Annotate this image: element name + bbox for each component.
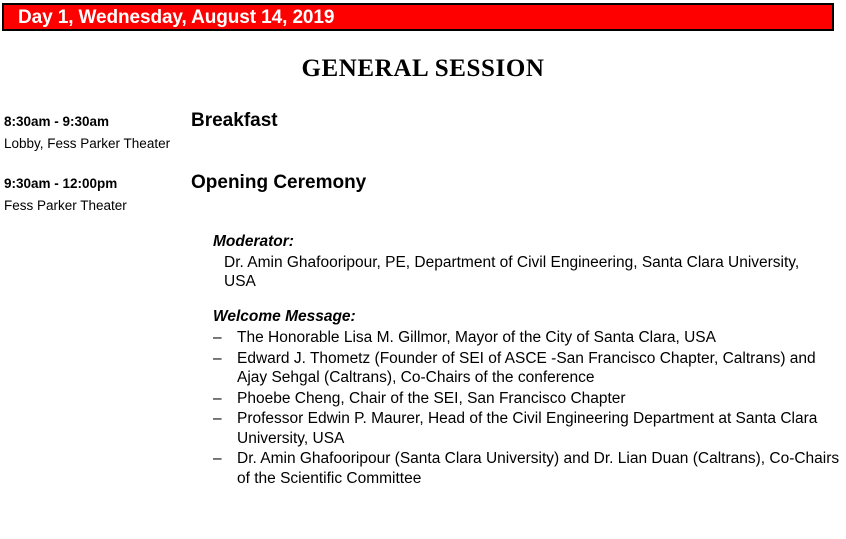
- list-item-text: The Honorable Lisa M. Gillmor, Mayor of …: [237, 329, 716, 346]
- dash-bullet-icon: –: [213, 349, 222, 369]
- day-banner: Day 1, Wednesday, August 14, 2019: [2, 3, 834, 31]
- list-item: – Phoebe Cheng, Chair of the SEI, San Fr…: [213, 389, 846, 409]
- moderator-text: Dr. Amin Ghafooripour, PE, Department of…: [224, 253, 809, 291]
- session-title: Opening Ceremony: [191, 171, 366, 195]
- welcome-message-heading: Welcome Message:: [213, 307, 846, 327]
- dash-bullet-icon: –: [213, 328, 222, 348]
- list-item: – Dr. Amin Ghafooripour (Santa Clara Uni…: [213, 449, 846, 488]
- session-location: Fess Parker Theater: [4, 197, 846, 215]
- schedule-list: 8:30am - 9:30am Breakfast Lobby, Fess Pa…: [0, 112, 846, 488]
- dash-bullet-icon: –: [213, 389, 222, 409]
- session-opening-ceremony: 9:30am - 12:00pm Opening Ceremony Fess P…: [0, 174, 846, 488]
- list-item-text: Professor Edwin P. Maurer, Head of the C…: [237, 410, 817, 447]
- session-location: Lobby, Fess Parker Theater: [4, 135, 846, 153]
- dash-bullet-icon: –: [213, 449, 222, 469]
- dash-bullet-icon: –: [213, 409, 222, 429]
- session-header-row: 8:30am - 9:30am Breakfast: [0, 112, 846, 134]
- page-title: GENERAL SESSION: [0, 55, 846, 83]
- moderator-block: Moderator: Dr. Amin Ghafooripour, PE, De…: [213, 232, 846, 291]
- list-item: – The Honorable Lisa M. Gillmor, Mayor o…: [213, 328, 846, 348]
- list-item-text: Phoebe Cheng, Chair of the SEI, San Fran…: [237, 390, 626, 407]
- session-title: Breakfast: [191, 109, 278, 133]
- session-breakfast: 8:30am - 9:30am Breakfast Lobby, Fess Pa…: [0, 112, 846, 152]
- session-header-row: 9:30am - 12:00pm Opening Ceremony: [0, 174, 846, 196]
- list-item: – Professor Edwin P. Maurer, Head of the…: [213, 409, 846, 448]
- moderator-heading: Moderator:: [213, 232, 846, 252]
- welcome-message-list: – The Honorable Lisa M. Gillmor, Mayor o…: [213, 328, 846, 488]
- list-item: – Edward J. Thometz (Founder of SEI of A…: [213, 349, 846, 388]
- welcome-message-block: Welcome Message: – The Honorable Lisa M.…: [213, 307, 846, 488]
- session-time: 8:30am - 9:30am: [4, 112, 109, 132]
- list-item-text: Edward J. Thometz (Founder of SEI of ASC…: [237, 350, 816, 387]
- day-banner-label: Day 1, Wednesday, August 14, 2019: [4, 8, 334, 27]
- session-time: 9:30am - 12:00pm: [4, 174, 117, 194]
- list-item-text: Dr. Amin Ghafooripour (Santa Clara Unive…: [237, 450, 839, 487]
